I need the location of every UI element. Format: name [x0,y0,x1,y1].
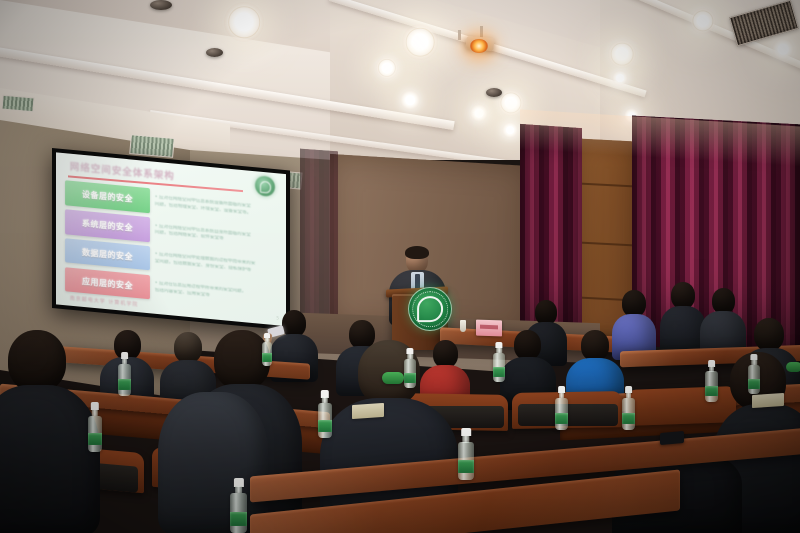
water-bottle[interactable] [230,478,247,533]
water-bottle[interactable] [458,428,474,480]
water-bottle[interactable] [493,342,505,382]
water-bottle[interactable] [404,348,416,388]
audience-member-foreground [158,362,268,533]
green-object [382,372,404,384]
phone-on-desk[interactable] [660,431,684,445]
recessed-downlight [772,38,794,60]
recessed-downlight [376,57,398,79]
recessed-downlight [470,104,488,122]
university-logo [255,175,275,197]
ceiling-speaker [486,88,502,97]
water-bottle[interactable] [622,386,635,430]
projection-screen[interactable]: 网络空间安全体系架构 设备层的安全 • 应对在网络空间中信息系统设备所面临的安全… [52,148,290,330]
recessed-downlight [224,2,264,42]
audience-torso [158,392,268,533]
ceiling-speaker [206,48,223,57]
water-bottle[interactable] [88,402,102,452]
recessed-downlight [608,40,636,68]
notebook[interactable] [752,393,784,408]
slide-chip-label: 设备层的安全 [65,181,150,213]
slide-chip-label: 数据层的安全 [65,238,150,270]
audience-head [514,330,541,360]
water-bottle[interactable] [118,352,131,396]
slide-surface: 网络空间安全体系架构 设备层的安全 • 应对在网络空间中信息系统设备所面临的安全… [56,152,286,326]
audience-head [754,318,784,351]
recessed-downlight [402,24,438,60]
recessed-downlight [400,90,420,110]
audience-head [622,290,646,317]
green-object [786,362,800,372]
audience-head [581,330,609,361]
wall-air-vent [1,95,34,113]
ceiling-speaker [150,0,172,10]
water-bottle[interactable] [318,390,332,438]
audience-member-foreground [0,330,100,533]
water-bottle[interactable] [262,333,272,366]
audience-head [671,282,695,309]
recessed-downlight [690,8,716,34]
university-emblem [408,287,452,331]
notebook[interactable] [352,403,384,419]
lecture-hall-photo: 网络空间安全体系架构 设备层的安全 • 应对在网络空间中信息系统设备所面临的安全… [0,0,800,533]
projector-mount [458,30,461,40]
stage-curtain-far [300,149,338,332]
projector-lamp [470,39,488,53]
recessed-downlight [502,122,518,138]
water-bottle[interactable] [705,360,718,402]
recessed-downlight [612,70,628,86]
presenter-hair [405,246,429,259]
paper-cup [460,320,466,332]
audience-head [8,330,66,392]
water-bottle[interactable] [748,354,760,394]
wall-air-vent [129,134,175,158]
slide-chip-label: 系统层的安全 [65,209,150,241]
name-tent-card [476,320,502,337]
audience-torso [0,385,100,533]
seat-cushion [518,404,618,426]
water-bottle[interactable] [555,386,568,430]
